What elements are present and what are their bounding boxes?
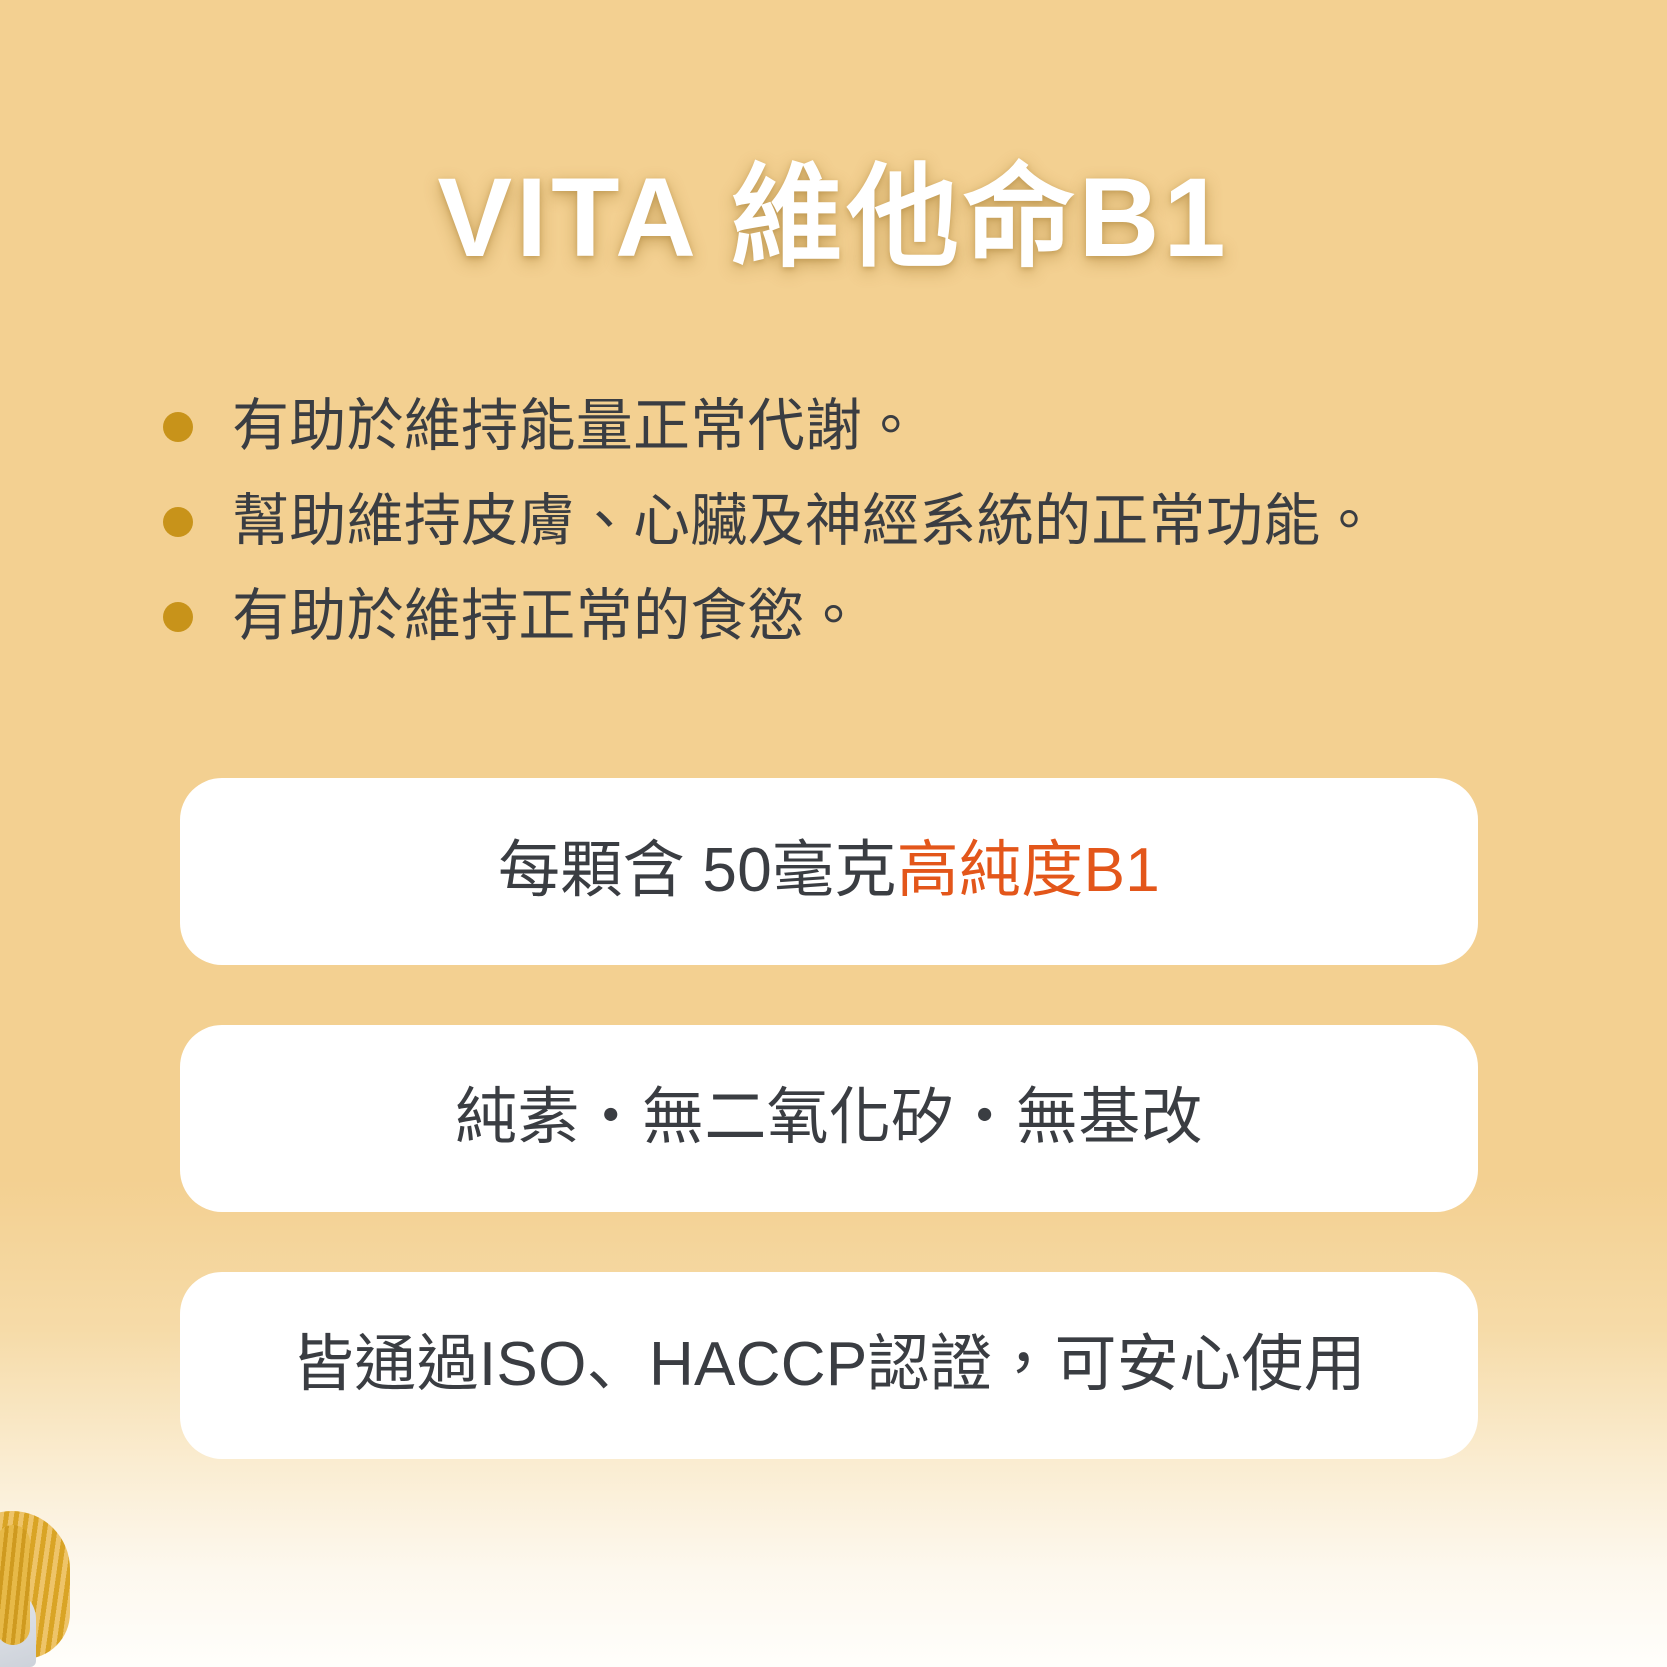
benefit-text: 有助於維持能量正常代謝。 bbox=[232, 395, 919, 459]
formulation-card-text: 純素・無二氧化矽・無基改 bbox=[455, 1084, 1203, 1152]
list-item: 幫助維持皮膚、心臟及神經系統的正常功能。 bbox=[163, 490, 1563, 554]
model-body-shape bbox=[0, 1589, 36, 1667]
certification-card-text: 皆通過ISO、HACCP認證，可安心使用 bbox=[292, 1331, 1366, 1399]
certification-card: 皆通過ISO、HACCP認證，可安心使用 bbox=[180, 1272, 1478, 1459]
dosage-card: 每顆含 50毫克高純度B1 bbox=[180, 778, 1478, 965]
product-model-peek-image bbox=[0, 1497, 104, 1667]
benefit-text: 幫助維持皮膚、心臟及神經系統的正常功能。 bbox=[232, 490, 1378, 554]
model-hair-front-shape bbox=[0, 1525, 30, 1645]
model-hair-shape bbox=[0, 1511, 70, 1659]
bullet-dot-icon bbox=[163, 412, 193, 442]
formulation-card: 純素・無二氧化矽・無基改 bbox=[180, 1025, 1478, 1212]
page-title: VITA 維他命B1 bbox=[437, 155, 1229, 280]
dosage-card-plain: 每顆含 50毫克 bbox=[498, 836, 897, 905]
feature-cards: 每顆含 50毫克高純度B1 純素・無二氧化矽・無基改 皆通過ISO、HACCP認… bbox=[180, 778, 1478, 1459]
benefit-text: 有助於維持正常的食慾。 bbox=[232, 585, 862, 649]
list-item: 有助於維持能量正常代謝。 bbox=[163, 395, 1563, 459]
bullet-dot-icon bbox=[163, 602, 193, 632]
certification-card-plain: 皆通過ISO、HACCP認證，可安心使用 bbox=[292, 1330, 1366, 1399]
title-container: VITA 維他命B1 bbox=[0, 155, 1667, 280]
bullet-dot-icon bbox=[163, 507, 193, 537]
poster-root: VITA 維他命B1 有助於維持能量正常代謝。 幫助維持皮膚、心臟及神經系統的正… bbox=[0, 0, 1667, 1667]
list-item: 有助於維持正常的食慾。 bbox=[163, 585, 1563, 649]
dosage-card-accent: 高純度B1 bbox=[897, 836, 1160, 905]
formulation-card-plain: 純素・無二氧化矽・無基改 bbox=[455, 1083, 1203, 1152]
benefits-list: 有助於維持能量正常代謝。 幫助維持皮膚、心臟及神經系統的正常功能。 有助於維持正… bbox=[163, 395, 1563, 648]
dosage-card-text: 每顆含 50毫克高純度B1 bbox=[498, 837, 1160, 905]
